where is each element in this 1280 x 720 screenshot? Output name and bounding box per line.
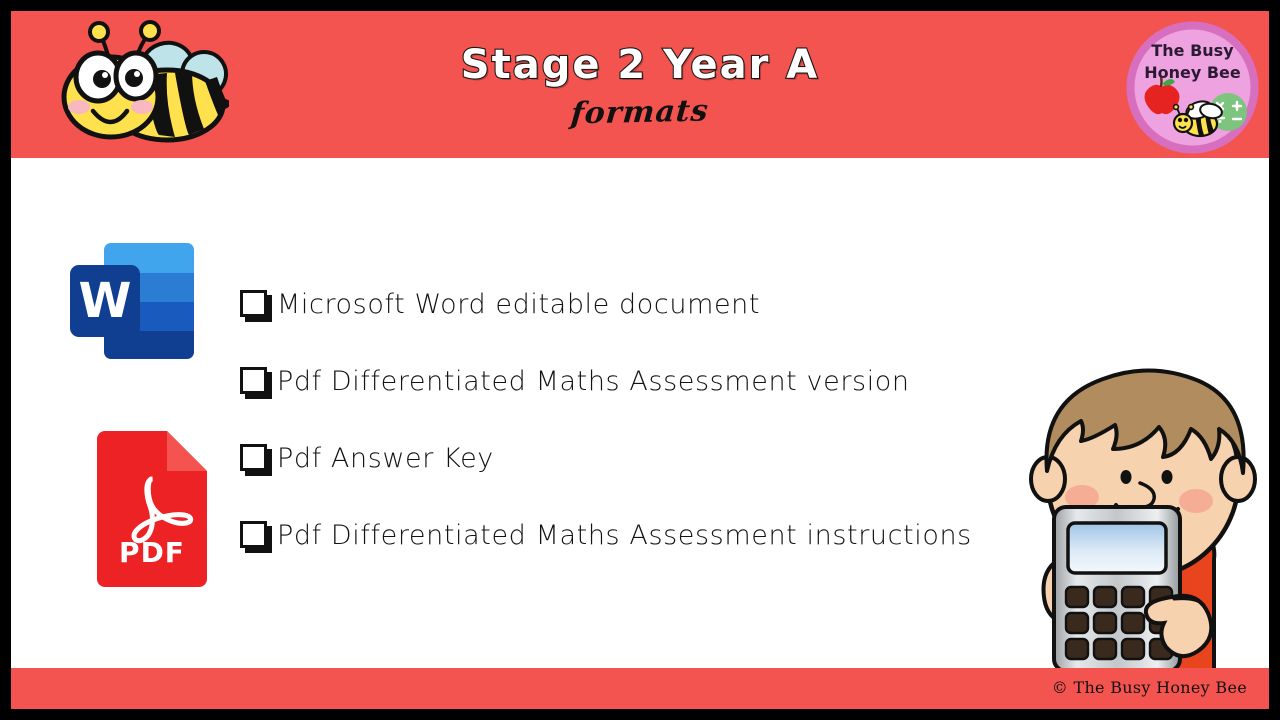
slide-root: Stage 2 Year A formats (0, 0, 1280, 720)
checkbox-pdf-instructions[interactable] (240, 521, 267, 548)
logo-line-1: The Busy (1151, 41, 1234, 60)
checklist-item[interactable]: Pdf Differentiated Maths Assessment vers… (240, 343, 1040, 420)
checklist-item[interactable]: Pdf Answer Key (240, 420, 1040, 497)
calculator-icon (1054, 507, 1180, 671)
page-subtitle: formats (570, 93, 711, 131)
checklist-item-label: Pdf Differentiated Maths Assessment vers… (277, 366, 910, 397)
pdf-file-icon: PDF (89, 431, 215, 587)
checklist-item[interactable]: Microsoft Word editable document (240, 266, 1040, 343)
checkbox-pdf-assessment-version[interactable] (240, 367, 267, 394)
pdf-icon-label: PDF (119, 536, 185, 569)
page-title: Stage 2 Year A (461, 44, 819, 86)
copyright-credit: © The Busy Honey Bee (1052, 678, 1247, 697)
slide-page: Stage 2 Year A formats (11, 11, 1269, 709)
checkbox-microsoft-word[interactable] (240, 290, 267, 317)
checklist-item[interactable]: Pdf Differentiated Maths Assessment inst… (240, 497, 1040, 574)
footer-bar: © The Busy Honey Bee (11, 668, 1269, 709)
word-icon-letter: W (79, 273, 132, 329)
microsoft-word-icon: W (66, 239, 198, 363)
bee-icon (49, 19, 229, 149)
logo-line-2: Honey Bee (1144, 63, 1241, 82)
checklist-item-label: Pdf Answer Key (277, 443, 494, 474)
checklist-item-label: Microsoft Word editable document (277, 289, 760, 320)
checklist-item-label: Pdf Differentiated Maths Assessment inst… (277, 520, 972, 551)
brand-logo: The Busy Honey Bee (1125, 20, 1260, 155)
boy-with-calculator-illustration (1006, 359, 1269, 671)
formats-checklist: Microsoft Word editable document Pdf Dif… (240, 266, 1040, 574)
checkbox-pdf-answer-key[interactable] (240, 444, 267, 471)
